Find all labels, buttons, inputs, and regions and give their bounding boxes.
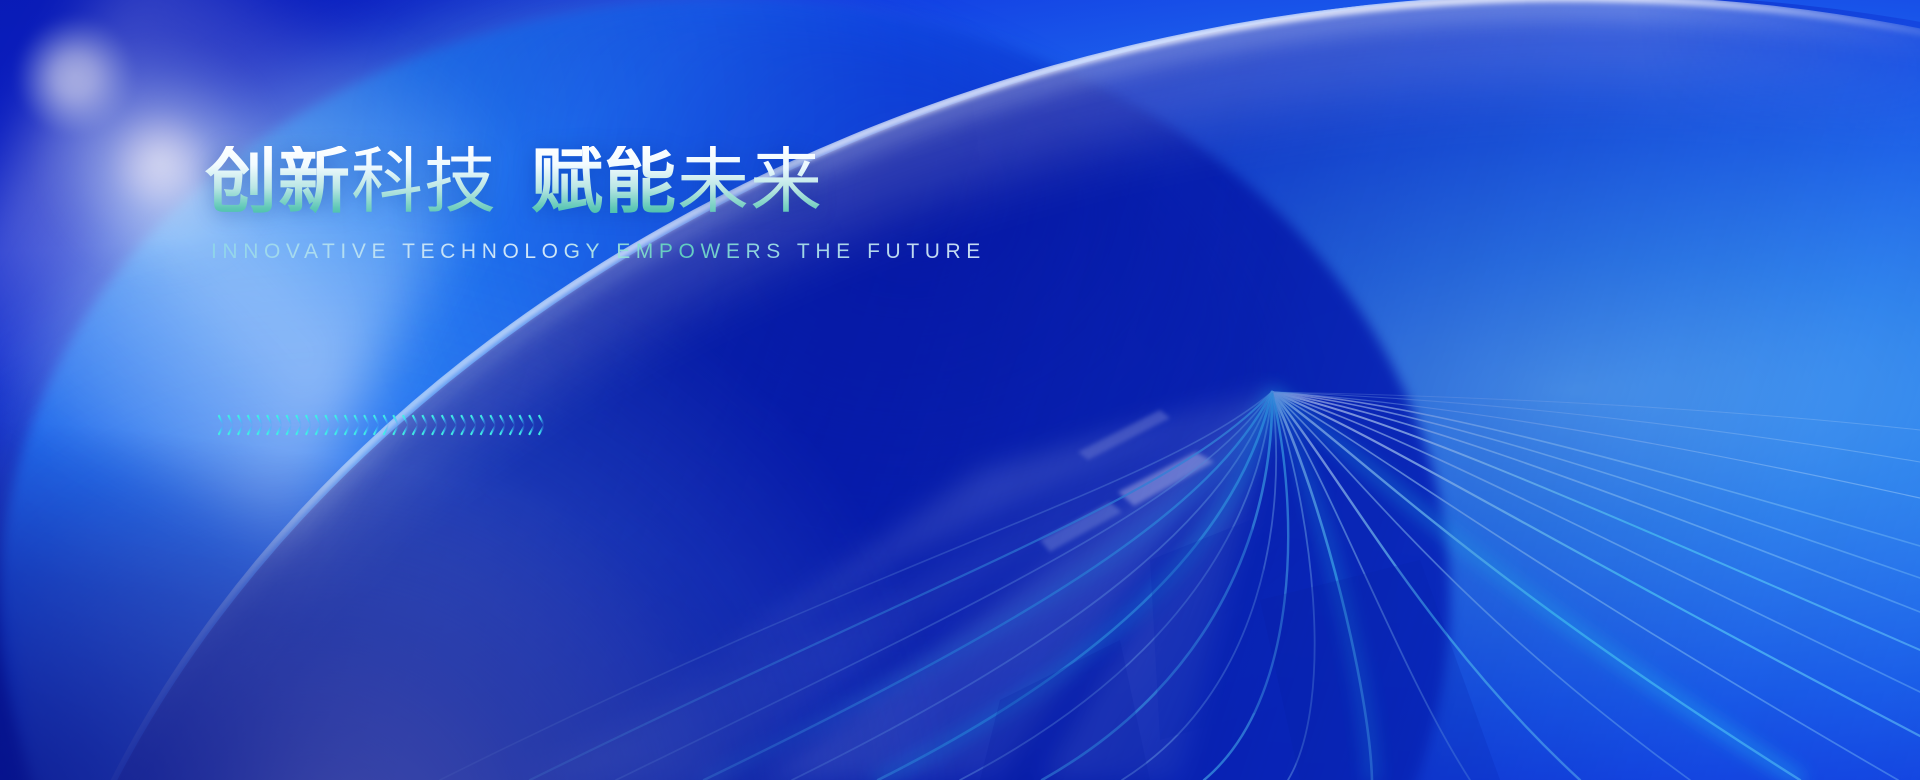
- headline-segment-technology: 科技: [351, 146, 497, 218]
- chevron-strip: [218, 410, 548, 440]
- speed-line-fan: [0, 0, 1920, 780]
- headline-segment-empower: 赋能: [531, 146, 677, 218]
- page-title: 创新科技赋能未来: [205, 146, 1105, 218]
- page-subtitle: INNOVATIVE TECHNOLOGY EMPOWERS THE FUTUR…: [211, 240, 1105, 264]
- hero-banner: 创新科技赋能未来 INNOVATIVE TECHNOLOGY EMPOWERS …: [0, 0, 1920, 780]
- headline-segment-future: 未来: [677, 146, 823, 218]
- headline-segment-innovation: 创新: [205, 146, 351, 218]
- headline-block: 创新科技赋能未来 INNOVATIVE TECHNOLOGY EMPOWERS …: [205, 146, 1105, 264]
